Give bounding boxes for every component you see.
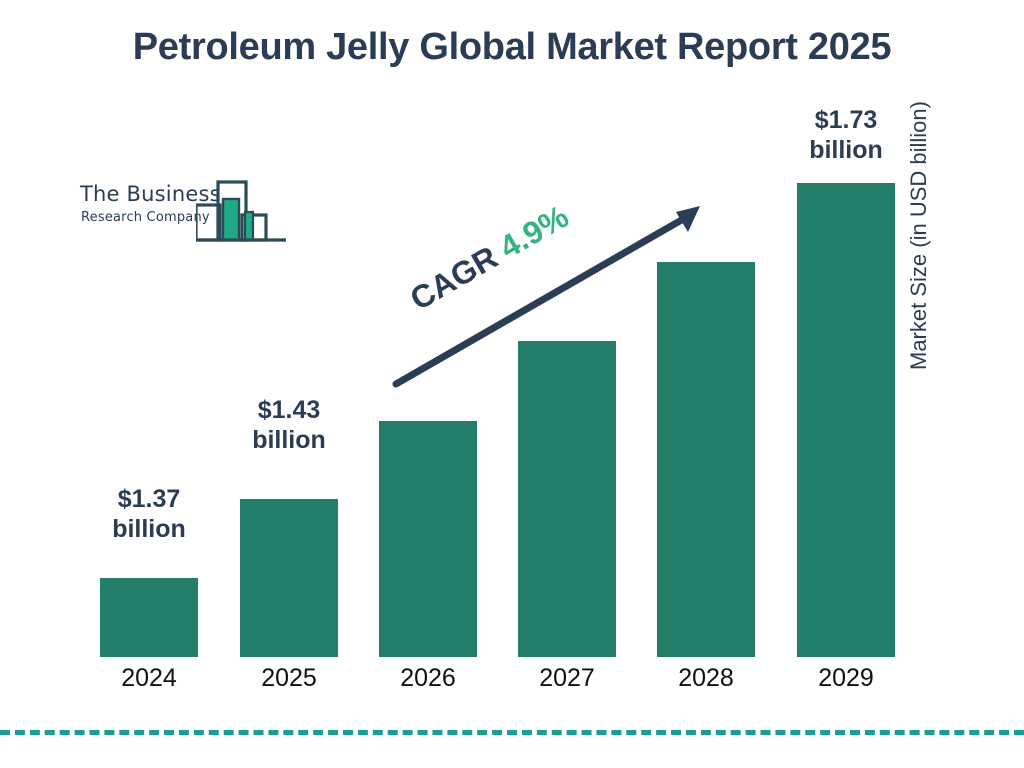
bar-2029[interactable] <box>797 183 895 657</box>
bar-chart-plot-area: $1.37 billion 2024 $1.43 billion 2025 20… <box>0 0 1024 768</box>
chart-canvas: Petroleum Jelly Global Market Report 202… <box>0 0 1024 768</box>
value-label-2024: $1.37 billion <box>79 485 219 544</box>
value-label-2025-amount: $1.43 <box>219 396 359 426</box>
bar-2028[interactable] <box>657 262 755 657</box>
value-label-2029-unit: billion <box>776 136 916 166</box>
value-label-2024-amount: $1.37 <box>79 485 219 515</box>
bar-2024[interactable] <box>100 578 198 657</box>
x-tick-2025: 2025 <box>239 664 339 693</box>
footer-divider <box>0 730 1024 735</box>
bar-2025[interactable] <box>240 499 338 657</box>
value-label-2029: $1.73 billion <box>776 106 916 165</box>
bar-2027[interactable] <box>518 341 616 657</box>
value-label-2029-amount: $1.73 <box>776 106 916 136</box>
x-tick-2028: 2028 <box>656 664 756 693</box>
bar-2026[interactable] <box>379 421 477 657</box>
x-tick-2027: 2027 <box>517 664 617 693</box>
x-tick-2024: 2024 <box>99 664 199 693</box>
value-label-2024-unit: billion <box>79 515 219 545</box>
y-axis-title: Market Size (in USD billion) <box>906 30 932 370</box>
x-tick-2026: 2026 <box>378 664 478 693</box>
value-label-2025: $1.43 billion <box>219 396 359 455</box>
value-label-2025-unit: billion <box>219 426 359 456</box>
x-tick-2029: 2029 <box>796 664 896 693</box>
